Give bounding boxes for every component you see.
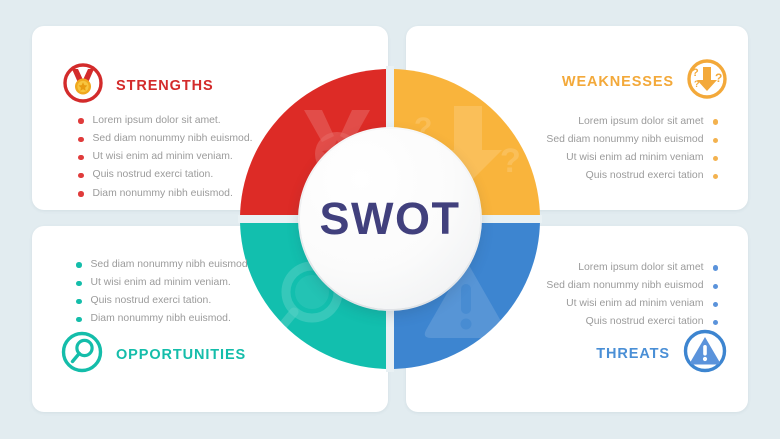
warning-triangle-icon bbox=[682, 328, 728, 379]
list-item: Diam nonummy nibh euismod. bbox=[78, 185, 252, 203]
heading-strengths: STRENGTHS bbox=[62, 62, 214, 109]
list-item: Quis nostrud exerci tation bbox=[586, 314, 718, 332]
list-strengths: Lorem ipsum dolor sit amet. Sed diam non… bbox=[78, 112, 252, 203]
bullet-dot bbox=[76, 299, 82, 305]
bullet-dot bbox=[713, 119, 719, 125]
list-item: Ut wisi enim ad minim veniam. bbox=[76, 274, 248, 292]
bullet-dot bbox=[713, 138, 719, 144]
heading-opportunities: OPPORTUNITIES bbox=[60, 330, 246, 379]
bullet-dot bbox=[78, 173, 84, 179]
heading-label-strengths: STRENGTHS bbox=[116, 78, 214, 94]
bullet-dot bbox=[78, 137, 84, 143]
list-item-text: Quis nostrud exerci tation. bbox=[93, 170, 214, 180]
list-item: Ut wisi enim ad minim veniam. bbox=[78, 148, 252, 166]
down-arrow-question-icon: ? ? ? bbox=[686, 58, 728, 105]
list-item-text: Ut wisi enim ad minim veniam. bbox=[91, 278, 231, 288]
bullet-dot bbox=[713, 156, 719, 162]
svg-text:?: ? bbox=[715, 71, 722, 85]
list-item-text: Quis nostrud exerci tation bbox=[586, 317, 704, 327]
bullet-dot bbox=[78, 118, 84, 124]
list-item-text: Ut wisi enim ad minim veniam bbox=[566, 299, 703, 309]
list-item: Sed diam nonummy nibh euismod bbox=[76, 256, 248, 274]
list-item: Ut wisi enim ad minim veniam bbox=[566, 295, 718, 313]
list-item: Diam nonummy nibh euismod. bbox=[76, 311, 248, 329]
list-opportunities: Sed diam nonummy nibh euismod Ut wisi en… bbox=[76, 256, 248, 329]
swot-center-circle: SWOT bbox=[300, 129, 480, 309]
list-item: Lorem ipsum dolor sit amet bbox=[578, 259, 718, 277]
bullet-dot bbox=[78, 155, 84, 161]
list-item: Ut wisi enim ad minim veniam bbox=[566, 149, 718, 167]
list-item-text: Sed diam nonummy nibh euismod bbox=[546, 281, 703, 291]
list-item: Quis nostrud exerci tation. bbox=[76, 292, 248, 310]
bullet-dot bbox=[713, 265, 719, 271]
bullet-dot bbox=[713, 174, 719, 180]
bullet-dot bbox=[76, 317, 82, 323]
list-item: Lorem ipsum dolor sit amet bbox=[578, 113, 718, 131]
heading-weaknesses: ? ? ? WEAKNESSES bbox=[562, 58, 728, 105]
list-item-text: Sed diam nonummy nibh euismod bbox=[546, 135, 703, 145]
list-item-text: Lorem ipsum dolor sit amet. bbox=[93, 116, 221, 126]
list-item: Lorem ipsum dolor sit amet. bbox=[78, 112, 252, 130]
bullet-dot bbox=[713, 302, 719, 308]
list-item: Sed diam nonummy nibh euismod bbox=[546, 277, 718, 295]
svg-text:?: ? bbox=[692, 67, 699, 79]
list-weaknesses: Lorem ipsum dolor sit amet Sed diam nonu… bbox=[546, 113, 718, 186]
list-item-text: Sed diam nonummy nibh euismod bbox=[91, 260, 248, 270]
bullet-dot bbox=[76, 281, 82, 287]
swot-center-label: SWOT bbox=[320, 193, 461, 245]
list-item-text: Diam nonummy nibh euismod. bbox=[93, 189, 233, 199]
svg-text:?: ? bbox=[500, 142, 521, 180]
bullet-dot bbox=[78, 191, 84, 197]
swot-infographic: ? ? ? bbox=[0, 0, 780, 439]
magnifier-icon bbox=[60, 330, 104, 379]
list-item: Quis nostrud exerci tation bbox=[586, 168, 718, 186]
list-item-text: Quis nostrud exerci tation bbox=[586, 171, 704, 181]
heading-label-weaknesses: WEAKNESSES bbox=[562, 74, 674, 90]
bullet-dot bbox=[713, 320, 719, 326]
list-item: Quis nostrud exerci tation. bbox=[78, 167, 252, 185]
list-item-text: Lorem ipsum dolor sit amet bbox=[578, 117, 703, 127]
list-item: Sed diam nonummy nibh euismod bbox=[546, 131, 718, 149]
svg-text:?: ? bbox=[694, 79, 700, 89]
list-item-text: Sed diam nonummy nibh euismod. bbox=[93, 134, 253, 144]
bullet-dot bbox=[76, 262, 82, 268]
heading-label-opportunities: OPPORTUNITIES bbox=[116, 347, 246, 363]
list-item-text: Quis nostrud exerci tation. bbox=[91, 296, 212, 306]
heading-threats: THREATS bbox=[596, 328, 728, 379]
list-item-text: Lorem ipsum dolor sit amet bbox=[578, 263, 703, 273]
list-item: Sed diam nonummy nibh euismod. bbox=[78, 130, 252, 148]
list-item-text: Ut wisi enim ad minim veniam. bbox=[93, 152, 233, 162]
heading-label-threats: THREATS bbox=[596, 346, 670, 362]
list-item-text: Ut wisi enim ad minim veniam bbox=[566, 153, 703, 163]
list-threats: Lorem ipsum dolor sit amet Sed diam nonu… bbox=[546, 259, 718, 332]
swot-donut-chart: ? ? ? bbox=[238, 66, 542, 372]
medal-icon bbox=[62, 62, 104, 109]
list-item-text: Diam nonummy nibh euismod. bbox=[91, 314, 231, 324]
bullet-dot bbox=[713, 284, 719, 290]
